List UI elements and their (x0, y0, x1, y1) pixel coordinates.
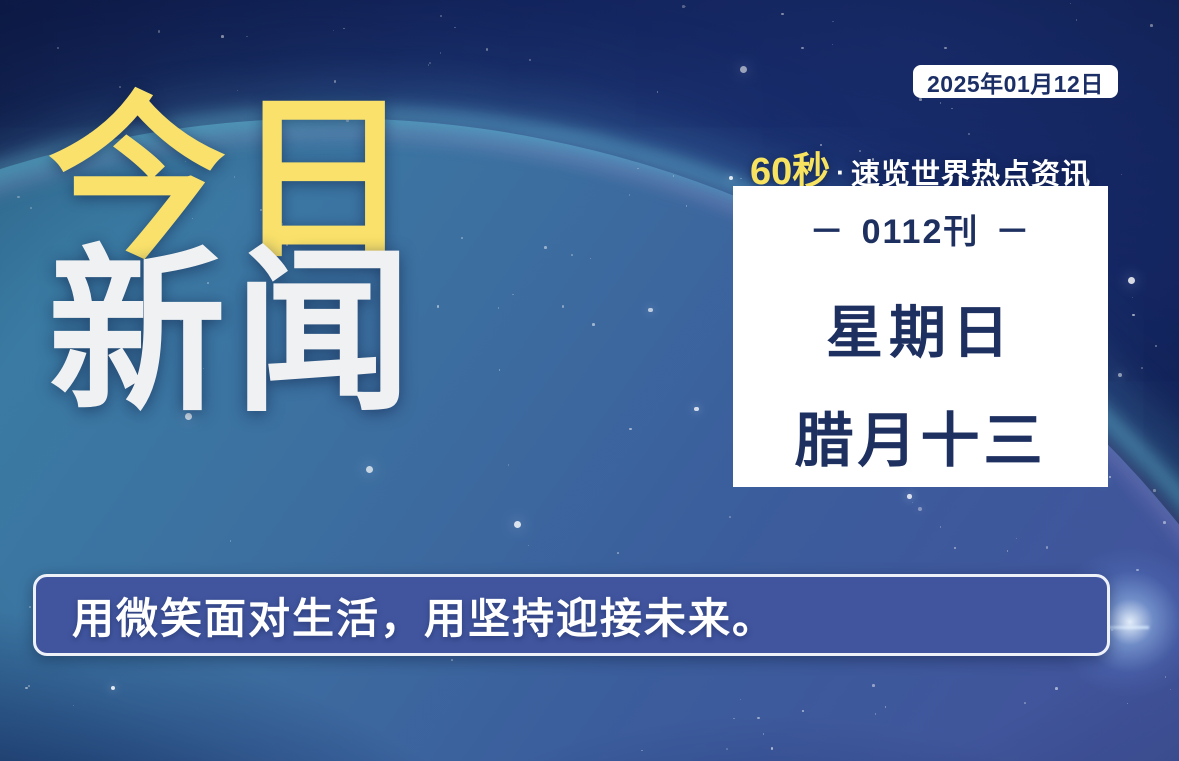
content-layer: 今日 新闻 2025年01月12日 60秒 · 速览世界热点资讯 － 0112刊… (0, 0, 1179, 761)
headline-line-xinwen: 新闻 (48, 249, 420, 416)
poster-headline: 今日 新闻 (48, 96, 420, 417)
quote-banner-text: 用微笑面对生活，用坚持迎接未来。 (36, 585, 776, 646)
quote-banner: 用微笑面对生活，用坚持迎接未来。 (33, 574, 1110, 656)
date-badge-label: 2025年01月12日 (927, 65, 1104, 99)
issue-dash-right: － (995, 204, 1031, 253)
tagline-separator-dot: · (836, 157, 845, 188)
issue-dash-left: － (810, 204, 846, 253)
issue-info-card: － 0112刊 － 星期日 腊月十三 (733, 186, 1108, 487)
issue-number: 0112刊 (862, 204, 980, 253)
weekday-label: 星期日 (826, 287, 1015, 369)
date-badge: 2025年01月12日 (913, 65, 1118, 98)
news-poster: 今日 新闻 2025年01月12日 60秒 · 速览世界热点资讯 － 0112刊… (0, 0, 1179, 761)
lunar-date-label: 腊月十三 (794, 393, 1046, 478)
issue-number-row: － 0112刊 － (810, 204, 1032, 253)
